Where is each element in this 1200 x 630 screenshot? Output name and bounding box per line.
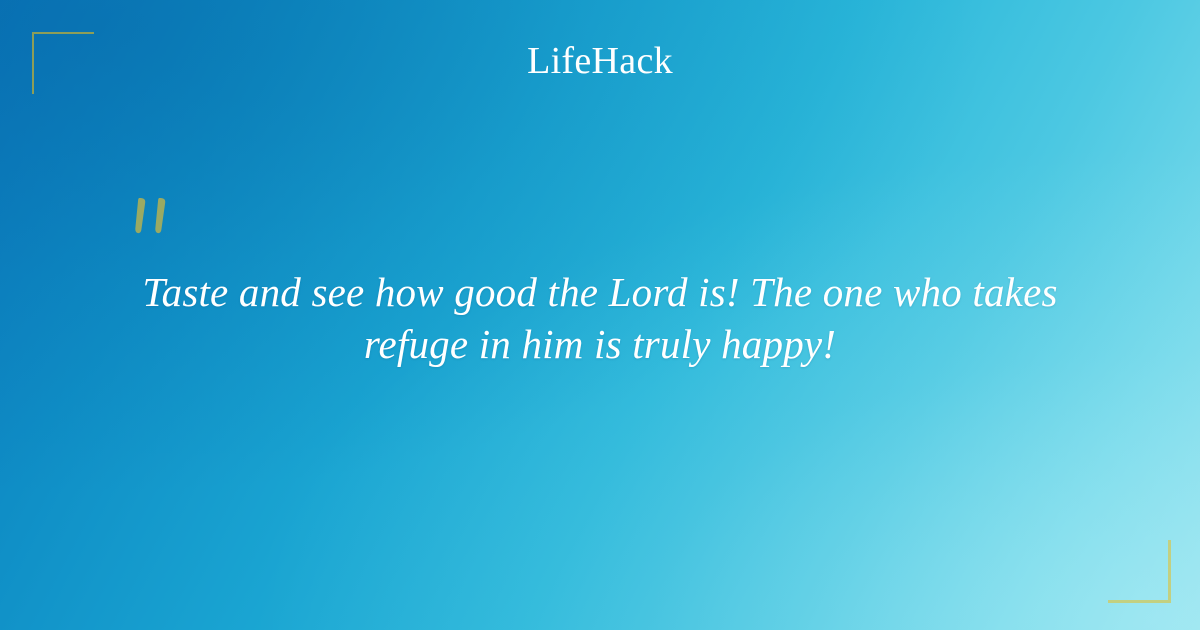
- quotation-mark-icon: [133, 196, 179, 248]
- corner-bracket-bottom-right-icon: [1108, 540, 1171, 603]
- quote-text: Taste and see how good the Lord is! The …: [100, 266, 1100, 370]
- quote-card: LifeHack Taste and see how good the Lord…: [0, 0, 1200, 630]
- brand-logo: LifeHack: [0, 38, 1200, 84]
- quote-block: Taste and see how good the Lord is! The …: [100, 266, 1100, 370]
